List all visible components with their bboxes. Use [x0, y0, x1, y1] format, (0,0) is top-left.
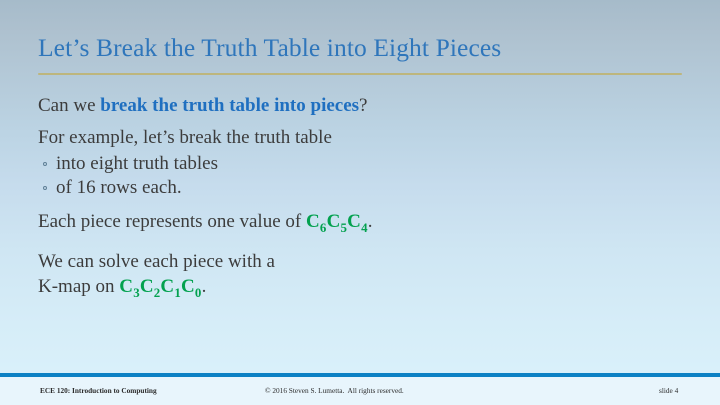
variable-c3: C3 [119, 276, 140, 297]
question-text-lead: Can we [38, 95, 100, 116]
variable-c1: C1 [160, 276, 181, 297]
paragraph-example: For example, let’s break the truth table [38, 125, 678, 150]
list-item-label: into eight truth tables [56, 153, 218, 174]
variable-group-c6c5c4: C6C5C4 [306, 211, 368, 232]
body-content: Can we break the truth table into pieces… [38, 93, 678, 312]
example-text: For example, let’s break the truth table [38, 127, 332, 148]
variable-c4: C4 [347, 211, 368, 232]
hollow-circle-bullet-icon [43, 162, 47, 166]
list-item-label: of 16 rows each. [56, 177, 182, 198]
piece-value-lead: Each piece represents one value of [38, 211, 306, 232]
subscript-6: 6 [320, 220, 327, 235]
piece-value-tail: . [368, 211, 373, 232]
subscript-3: 3 [133, 285, 140, 300]
variable-c5: C5 [327, 211, 348, 232]
list-item: of 16 rows each. [38, 176, 678, 200]
page-title: Let’s Break the Truth Table into Eight P… [38, 33, 690, 63]
question-emphasis: break the truth table into pieces [100, 95, 359, 116]
footer-course-label: ECE 120: Introduction to Computing [40, 386, 157, 396]
variable-group-c3c2c1c0: C3C2C1C0 [119, 276, 201, 297]
sub-bullet-list: into eight truth tables of 16 rows each. [38, 152, 678, 200]
title-divider-rule [38, 73, 682, 75]
variable-c0: C0 [181, 276, 202, 297]
subscript-4: 4 [361, 220, 368, 235]
variable-c6: C6 [306, 211, 327, 232]
subscript-1: 1 [174, 285, 181, 300]
question-text-tail: ? [359, 95, 367, 116]
title-block: Let’s Break the Truth Table into Eight P… [38, 33, 690, 63]
hollow-circle-bullet-icon [43, 186, 47, 190]
footer-copyright-label: © 2016 Steven S. Lumetta. All rights res… [265, 386, 404, 396]
variable-c2: C2 [140, 276, 161, 297]
footer-slide-number: slide 4 [659, 386, 678, 396]
paragraph-piece-value: Each piece represents one value of C6C5C… [38, 209, 678, 240]
paragraph-question: Can we break the truth table into pieces… [38, 93, 678, 118]
kmap-text-tail: . [202, 276, 207, 297]
subscript-0: 0 [195, 285, 202, 300]
list-item: into eight truth tables [38, 152, 678, 176]
paragraph-kmap: We can solve each piece with a K-map on … [38, 249, 678, 305]
slide-canvas: Let’s Break the Truth Table into Eight P… [0, 0, 720, 405]
